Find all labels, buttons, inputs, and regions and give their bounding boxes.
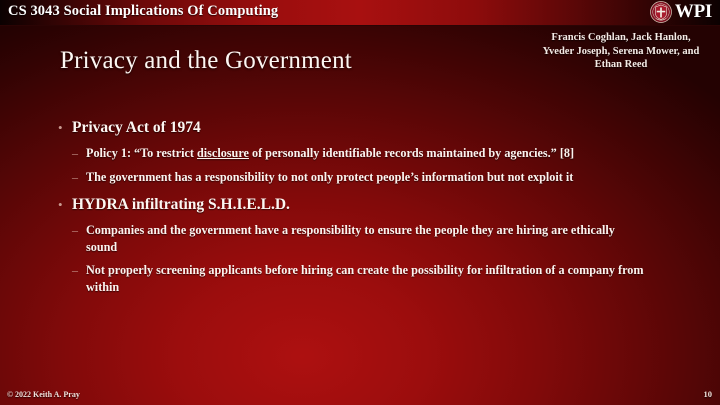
bullet-label: HYDRA infiltrating S.H.I.E.L.D. [72,195,290,215]
wpi-logo: WPI [650,1,712,23]
presentation-slide: CS 3043 Social Implications Of Computing… [0,0,720,405]
bullet-label: Privacy Act of 1974 [72,118,201,138]
bullet-dot-icon: • [58,118,72,138]
slide-header-bar: CS 3043 Social Implications Of Computing… [0,0,720,26]
sub-bullet-dash-icon: – [72,222,86,239]
slide-body: • Privacy Act of 1974 – Policy 1: “To re… [58,118,658,295]
sub-bullet-label: Not properly screening applicants before… [86,262,646,295]
sub-bullet-dash-icon: – [72,169,86,186]
sub-bullet-label: Policy 1: “To restrict disclosure of per… [86,145,574,162]
slide-title: Privacy and the Government [60,47,352,75]
sub-bullet-item: – Not properly screening applicants befo… [58,262,658,295]
bullet-item: • Privacy Act of 1974 [58,118,658,138]
sub-bullet-prefix: Policy 1: “To restrict [86,146,197,160]
sub-bullet-emphasis: disclosure [197,146,249,160]
wpi-wordmark: WPI [675,1,712,23]
bullet-item: • HYDRA infiltrating S.H.I.E.L.D. [58,195,658,215]
sub-bullet-dash-icon: – [72,262,86,279]
sub-bullet-dash-icon: – [72,145,86,162]
bullet-dot-icon: • [58,195,72,215]
sub-bullet-label: Companies and the government have a resp… [86,222,646,255]
sub-bullet-item: – Companies and the government have a re… [58,222,658,255]
course-title: CS 3043 Social Implications Of Computing [8,3,278,20]
authors-list: Francis Coghlan, Jack Hanlon, Yveder Jos… [536,31,706,72]
slide-number: 10 [704,389,713,399]
wpi-seal-icon [650,1,672,23]
sub-bullet-suffix: of personally identifiable records maint… [249,146,574,160]
sub-bullet-item: – The government has a responsibility to… [58,169,658,186]
sub-bullet-item: – Policy 1: “To restrict disclosure of p… [58,145,658,162]
footer-copyright: © 2022 Keith A. Pray [7,390,80,399]
sub-bullet-label: The government has a responsibility to n… [86,169,573,186]
